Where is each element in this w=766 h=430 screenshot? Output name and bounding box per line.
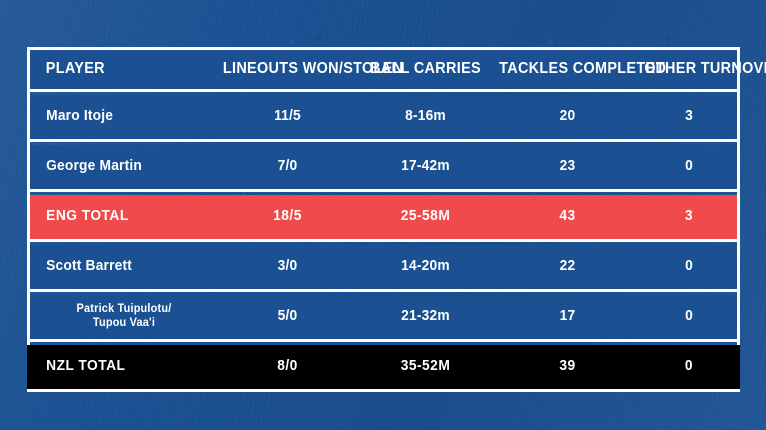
cell-turnovers: 0 <box>643 259 734 274</box>
cell-carries: 8-16m <box>360 109 490 124</box>
cell-tackles: 43 <box>498 209 638 224</box>
cell-carries: 14-20m <box>360 259 490 274</box>
cell-player: Scott Barrett <box>30 259 209 274</box>
cell-turnovers: 3 <box>643 109 734 124</box>
cell-carries: 25-58m <box>360 209 490 224</box>
cell-lineouts: 5/0 <box>221 309 353 324</box>
cell-carries: 17-42m <box>360 159 490 174</box>
cell-tackles: 23 <box>498 159 638 174</box>
cell-player: NZL TOTAL <box>30 359 209 374</box>
cell-turnovers: 0 <box>643 359 734 374</box>
column-header-player: PLAYER <box>30 61 205 77</box>
cell-carries: 35-52m <box>360 359 490 374</box>
cell-turnovers: 0 <box>643 159 734 174</box>
cell-player-line-2: Tupou Vaa'i <box>40 317 207 331</box>
cell-player: ENG TOTAL <box>30 209 209 224</box>
table-row-nzl-total: NZL TOTAL 8/0 35-52m 39 0 <box>27 345 740 392</box>
stats-table: PLAYER LINEOUTS WON/STOLEN BALL CARRIES … <box>27 47 740 392</box>
table-row: George Martin 7/0 17-42m 23 0 <box>30 145 737 192</box>
cell-player: Maro Itoje <box>30 109 209 124</box>
column-header-tackles: TACKLES COMPLETED <box>499 61 636 77</box>
table-row: Scott Barrett 3/0 14-20m 22 0 <box>30 245 737 292</box>
table-row: Maro Itoje 11/5 8-16m 20 3 <box>30 95 737 142</box>
cell-lineouts: 7/0 <box>221 159 353 174</box>
cell-lineouts: 18/5 <box>221 209 353 224</box>
column-header-carries: BALL CARRIES <box>362 61 489 77</box>
cell-lineouts: 3/0 <box>221 259 353 274</box>
table-row-eng-total: ENG TOTAL 18/5 25-58m 43 3 <box>30 195 737 242</box>
cell-tackles: 17 <box>498 309 638 324</box>
cell-lineouts: 11/5 <box>221 109 353 124</box>
column-header-turnovers: OTHER TURNOVERS WON <box>644 61 733 77</box>
cell-player-line-1: Patrick Tuipulotu/ <box>40 303 207 317</box>
graphic-canvas: PLAYER LINEOUTS WON/STOLEN BALL CARRIES … <box>0 0 766 430</box>
cell-lineouts: 8/0 <box>221 359 353 374</box>
cell-tackles: 22 <box>498 259 638 274</box>
column-header-lineouts: LINEOUTS WON/STOLEN <box>223 61 352 77</box>
cell-tackles: 39 <box>498 359 638 374</box>
table-row: Patrick Tuipulotu/ Tupou Vaa'i 5/0 21-32… <box>30 295 737 342</box>
table-header-row: PLAYER LINEOUTS WON/STOLEN BALL CARRIES … <box>30 47 737 92</box>
cell-tackles: 20 <box>498 109 638 124</box>
cell-turnovers: 3 <box>643 209 734 224</box>
cell-carries: 21-32m <box>360 309 490 324</box>
cell-player: Patrick Tuipulotu/ Tupou Vaa'i <box>35 303 214 330</box>
cell-player: George Martin <box>30 159 209 174</box>
cell-turnovers: 0 <box>643 309 734 324</box>
